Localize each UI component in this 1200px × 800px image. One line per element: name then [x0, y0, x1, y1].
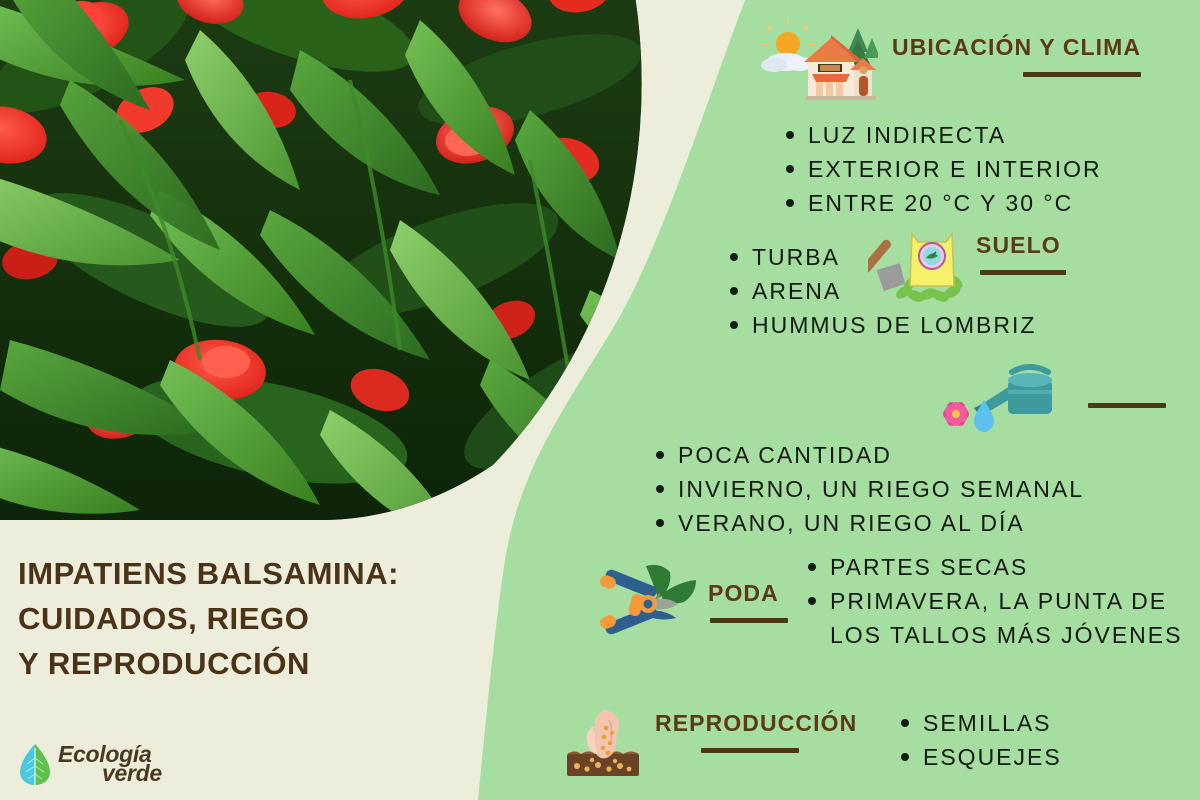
section-ubicacion-list: LUZ INDIRECTA EXTERIOR E INTERIOR ENTRE …	[782, 118, 1190, 220]
list-item: EXTERIOR E INTERIOR	[782, 152, 1190, 186]
pruning-shears-leaves-icon	[592, 552, 704, 656]
list-item: PRIMAVERA, LA PUNTA DE LOS TALLOS MÁS JÓ…	[804, 584, 1194, 652]
title-line-3: Y REPRODUCCIÓN	[18, 642, 518, 687]
list-item: SEMILLAS	[897, 706, 1062, 740]
section-ubicacion-rule	[1023, 72, 1141, 77]
section-reproduccion-rule	[701, 748, 799, 753]
title-line-1: IMPATIENS BALSAMINA:	[18, 552, 518, 597]
list-item: INVIERNO, UN RIEGO SEMANAL	[652, 472, 1200, 506]
section-ubicacion-title: UBICACIÓN Y CLIMA	[892, 34, 1141, 61]
section-reproduccion-list: SEMILLAS ESQUEJES	[897, 706, 1062, 774]
section-suelo-heading: SUELO	[976, 232, 1066, 275]
leaf-droplet-icon	[18, 742, 52, 786]
section-poda-heading: PODA	[708, 580, 788, 623]
section-riego-rule	[1088, 403, 1166, 408]
section-poda-list: PARTES SECAS PRIMAVERA, LA PUNTA DE LOS …	[804, 550, 1194, 652]
page-title: IMPATIENS BALSAMINA: CUIDADOS, RIEGO Y R…	[18, 552, 518, 687]
list-item: LUZ INDIRECTA	[782, 118, 1190, 152]
list-item: HUMMUS DE LOMBRIZ	[726, 308, 1036, 342]
section-poda-rule	[710, 618, 788, 623]
section-suelo: TURBA ARENA HUMMUS DE LOMBRIZ	[718, 232, 1188, 332]
title-line-2: CUIDADOS, RIEGO	[18, 597, 518, 642]
section-ubicacion-heading: UBICACIÓN Y CLIMA	[892, 34, 1141, 77]
flower-droplet-watering-can-icon	[938, 364, 1058, 436]
logo-wordmark: Ecología verde	[58, 744, 162, 783]
section-riego: POCA CANTIDAD INVIERNO, UN RIEGO SEMANAL…	[640, 382, 1200, 540]
section-suelo-rule	[980, 270, 1066, 275]
list-item: ENTRE 20 °C Y 30 °C	[782, 186, 1190, 220]
fertilizer-bag-shovel-icon	[868, 226, 976, 310]
hand-sowing-seeds-icon	[565, 706, 647, 786]
list-item: PARTES SECAS	[804, 550, 1194, 584]
list-item: ESQUEJES	[897, 740, 1062, 774]
list-item: POCA CANTIDAD	[652, 438, 1200, 472]
house-sun-trees-icon	[760, 18, 878, 104]
section-riego-heading	[1088, 392, 1166, 408]
section-poda-title: PODA	[708, 580, 779, 607]
section-reproduccion-title: REPRODUCCIÓN	[655, 710, 857, 737]
section-suelo-title: SUELO	[976, 232, 1061, 259]
ecologia-verde-logo[interactable]: Ecología verde	[18, 742, 162, 786]
section-riego-list: POCA CANTIDAD INVIERNO, UN RIEGO SEMANAL…	[652, 438, 1200, 540]
section-reproduccion-heading: REPRODUCCIÓN	[655, 710, 857, 753]
list-item: VERANO, UN RIEGO AL DÍA	[652, 506, 1200, 540]
logo-name-bottom: verde	[102, 763, 162, 784]
infographic-canvas: IMPATIENS BALSAMINA: CUIDADOS, RIEGO Y R…	[0, 0, 1200, 800]
section-ubicacion: UBICACIÓN Y CLIMA LUZ INDIRECTA EXTERIOR…	[760, 18, 1190, 220]
